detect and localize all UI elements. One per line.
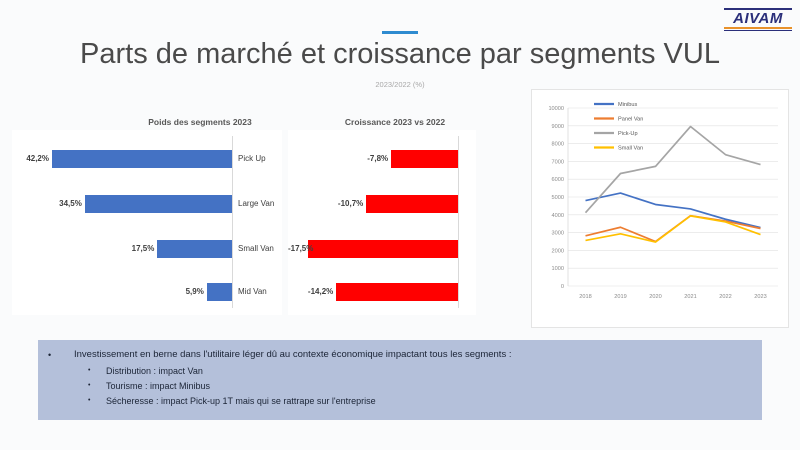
bullet-icon: • bbox=[48, 348, 74, 362]
y-axis-tick-label: 5000 bbox=[552, 195, 564, 201]
bullet-icon: • bbox=[88, 379, 106, 393]
evolution-line-chart: 0100020003000400050006000700080009000100… bbox=[532, 90, 788, 327]
logo-rule-thin bbox=[724, 30, 792, 31]
logo-rule-orange bbox=[724, 27, 792, 29]
note-sub-item: • Distribution : impact Van bbox=[38, 364, 762, 378]
x-axis-tick-label: 2023 bbox=[754, 294, 766, 300]
y-axis-tick-label: 0 bbox=[561, 284, 564, 290]
note-main-text: Investissement en berne dans l'utilitair… bbox=[74, 348, 511, 362]
page-subtitle: 2023/2022 (%) bbox=[0, 80, 800, 89]
chart-axis-poids bbox=[232, 136, 233, 308]
legend-label-small-van: Small Van bbox=[618, 146, 643, 152]
bar-pick-up bbox=[52, 150, 232, 168]
bullet-icon: • bbox=[88, 364, 106, 378]
bar-large-van bbox=[366, 195, 458, 213]
logo-wordmark: AIVAM bbox=[724, 11, 792, 26]
x-axis-tick-label: 2021 bbox=[684, 294, 696, 300]
bar-value-label: 17,5% bbox=[12, 240, 154, 258]
x-axis-tick-label: 2019 bbox=[614, 294, 626, 300]
legend-label-panel-van: Panel Van bbox=[618, 117, 643, 123]
note-main: • Investissement en berne dans l'utilita… bbox=[38, 348, 762, 362]
bar-mid-van bbox=[207, 283, 232, 301]
x-axis-tick-label: 2020 bbox=[649, 294, 661, 300]
chart-panel-evolution: 0100020003000400050006000700080009000100… bbox=[531, 89, 789, 328]
bar-pick-up bbox=[391, 150, 458, 168]
bar-small-van bbox=[157, 240, 232, 258]
note-sub-text: Distribution : impact Van bbox=[106, 364, 203, 378]
chart-panel-poids: 42,2%Pick Up34,5%Large Van17,5%Small Van… bbox=[12, 130, 282, 315]
y-axis-tick-label: 4000 bbox=[552, 213, 564, 219]
notes-panel: • Investissement en berne dans l'utilita… bbox=[38, 340, 762, 420]
chart-title-croissance: Croissance 2023 vs 2022 bbox=[300, 117, 490, 127]
x-axis-tick-label: 2018 bbox=[579, 294, 591, 300]
bar-value-label: -17,5% bbox=[288, 240, 305, 258]
y-axis-tick-label: 9000 bbox=[552, 124, 564, 130]
y-axis-tick-label: 8000 bbox=[552, 142, 564, 148]
note-sub-item: • Tourisme : impact Minibus bbox=[38, 379, 762, 393]
note-sub-text: Sécheresse : impact Pick-up 1T mais qui … bbox=[106, 394, 376, 408]
bar-value-label: -10,7% bbox=[288, 195, 363, 213]
line-series-pick-up bbox=[586, 127, 761, 213]
bar-value-label: 42,2% bbox=[12, 150, 49, 168]
bar-value-label: 34,5% bbox=[12, 195, 82, 213]
y-axis-tick-label: 7000 bbox=[552, 159, 564, 165]
aivam-logo: AIVAM ASSOCIAZIONE TRA INDUSTRIE VEICOLI… bbox=[724, 8, 792, 36]
bar-mid-van bbox=[336, 283, 458, 301]
bar-small-van bbox=[308, 240, 458, 258]
bar-category-label: Pick Up bbox=[238, 150, 266, 168]
y-axis-tick-label: 10000 bbox=[548, 106, 564, 112]
bar-category-label: Mid Van bbox=[238, 283, 267, 301]
bullet-icon: • bbox=[88, 394, 106, 408]
legend-label-pick-up: Pick-Up bbox=[618, 131, 638, 137]
y-axis-tick-label: 3000 bbox=[552, 231, 564, 237]
legend-label-minibus: Minibus bbox=[618, 102, 637, 108]
note-sub-item: • Sécheresse : impact Pick-up 1T mais qu… bbox=[38, 394, 762, 408]
note-sub-text: Tourisme : impact Minibus bbox=[106, 379, 210, 393]
page-title: Parts de marché et croissance par segmen… bbox=[0, 38, 800, 71]
bar-category-label: Small Van bbox=[238, 240, 274, 258]
y-axis-tick-label: 2000 bbox=[552, 248, 564, 254]
y-axis-tick-label: 6000 bbox=[552, 177, 564, 183]
bar-category-label: Large Van bbox=[238, 195, 274, 213]
chart-title-poids: Poids des segments 2023 bbox=[110, 117, 290, 127]
chart-panel-croissance: -7,8%-10,7%-17,5%-14,2% bbox=[288, 130, 476, 315]
title-accent-rule bbox=[382, 31, 418, 34]
y-axis-tick-label: 1000 bbox=[552, 266, 564, 272]
bar-value-label: 5,9% bbox=[12, 283, 204, 301]
logo-subtitle-line-2: associazione delle industrie di veicoli … bbox=[724, 34, 792, 36]
chart-axis-croissance bbox=[458, 136, 459, 308]
bar-value-label: -7,8% bbox=[288, 150, 388, 168]
x-axis-tick-label: 2022 bbox=[719, 294, 731, 300]
bar-value-label: -14,2% bbox=[288, 283, 333, 301]
bar-large-van bbox=[85, 195, 232, 213]
